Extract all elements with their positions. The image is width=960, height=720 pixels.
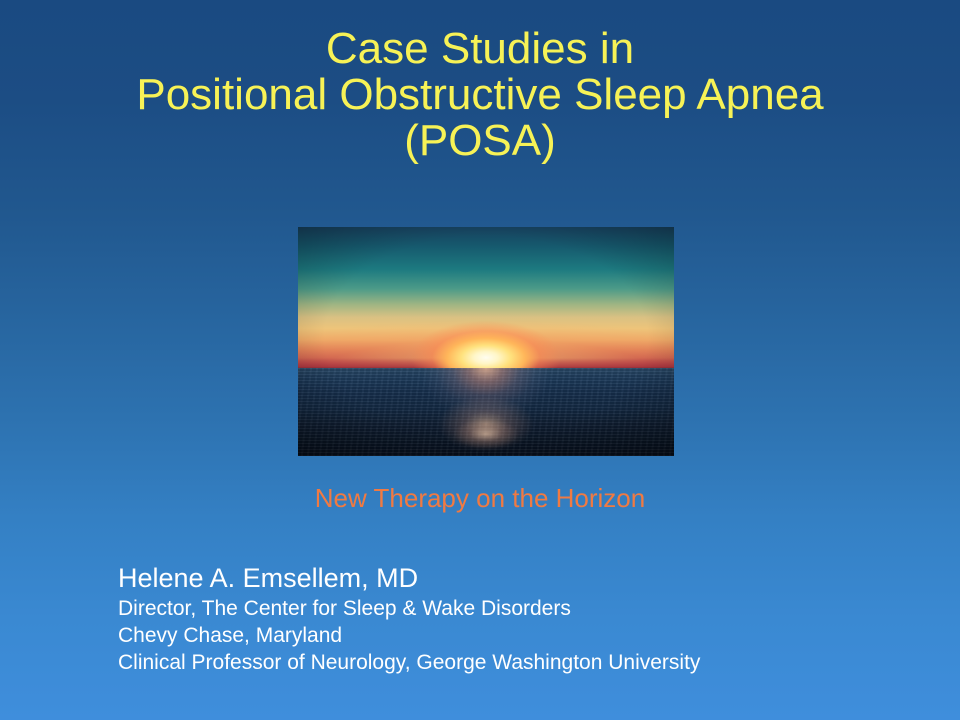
author-affiliation-line-3: Clinical Professor of Neurology, George … bbox=[118, 649, 700, 676]
sunset-over-ocean-photo bbox=[298, 227, 674, 456]
title-line-2: Positional Obstructive Sleep Apnea bbox=[0, 72, 960, 118]
author-name: Helene A. Emsellem, MD bbox=[118, 562, 700, 595]
title-line-3: (POSA) bbox=[0, 118, 960, 164]
author-affiliation-line-1: Director, The Center for Sleep & Wake Di… bbox=[118, 595, 700, 622]
author-block: Helene A. Emsellem, MD Director, The Cen… bbox=[118, 562, 700, 676]
slide-subtitle: New Therapy on the Horizon bbox=[0, 483, 960, 513]
page-title: Case Studies in Positional Obstructive S… bbox=[0, 26, 960, 164]
photo-vignette bbox=[298, 227, 674, 456]
presentation-slide: Case Studies in Positional Obstructive S… bbox=[0, 0, 960, 720]
author-affiliation-line-2: Chevy Chase, Maryland bbox=[118, 622, 700, 649]
title-line-1: Case Studies in bbox=[0, 26, 960, 72]
